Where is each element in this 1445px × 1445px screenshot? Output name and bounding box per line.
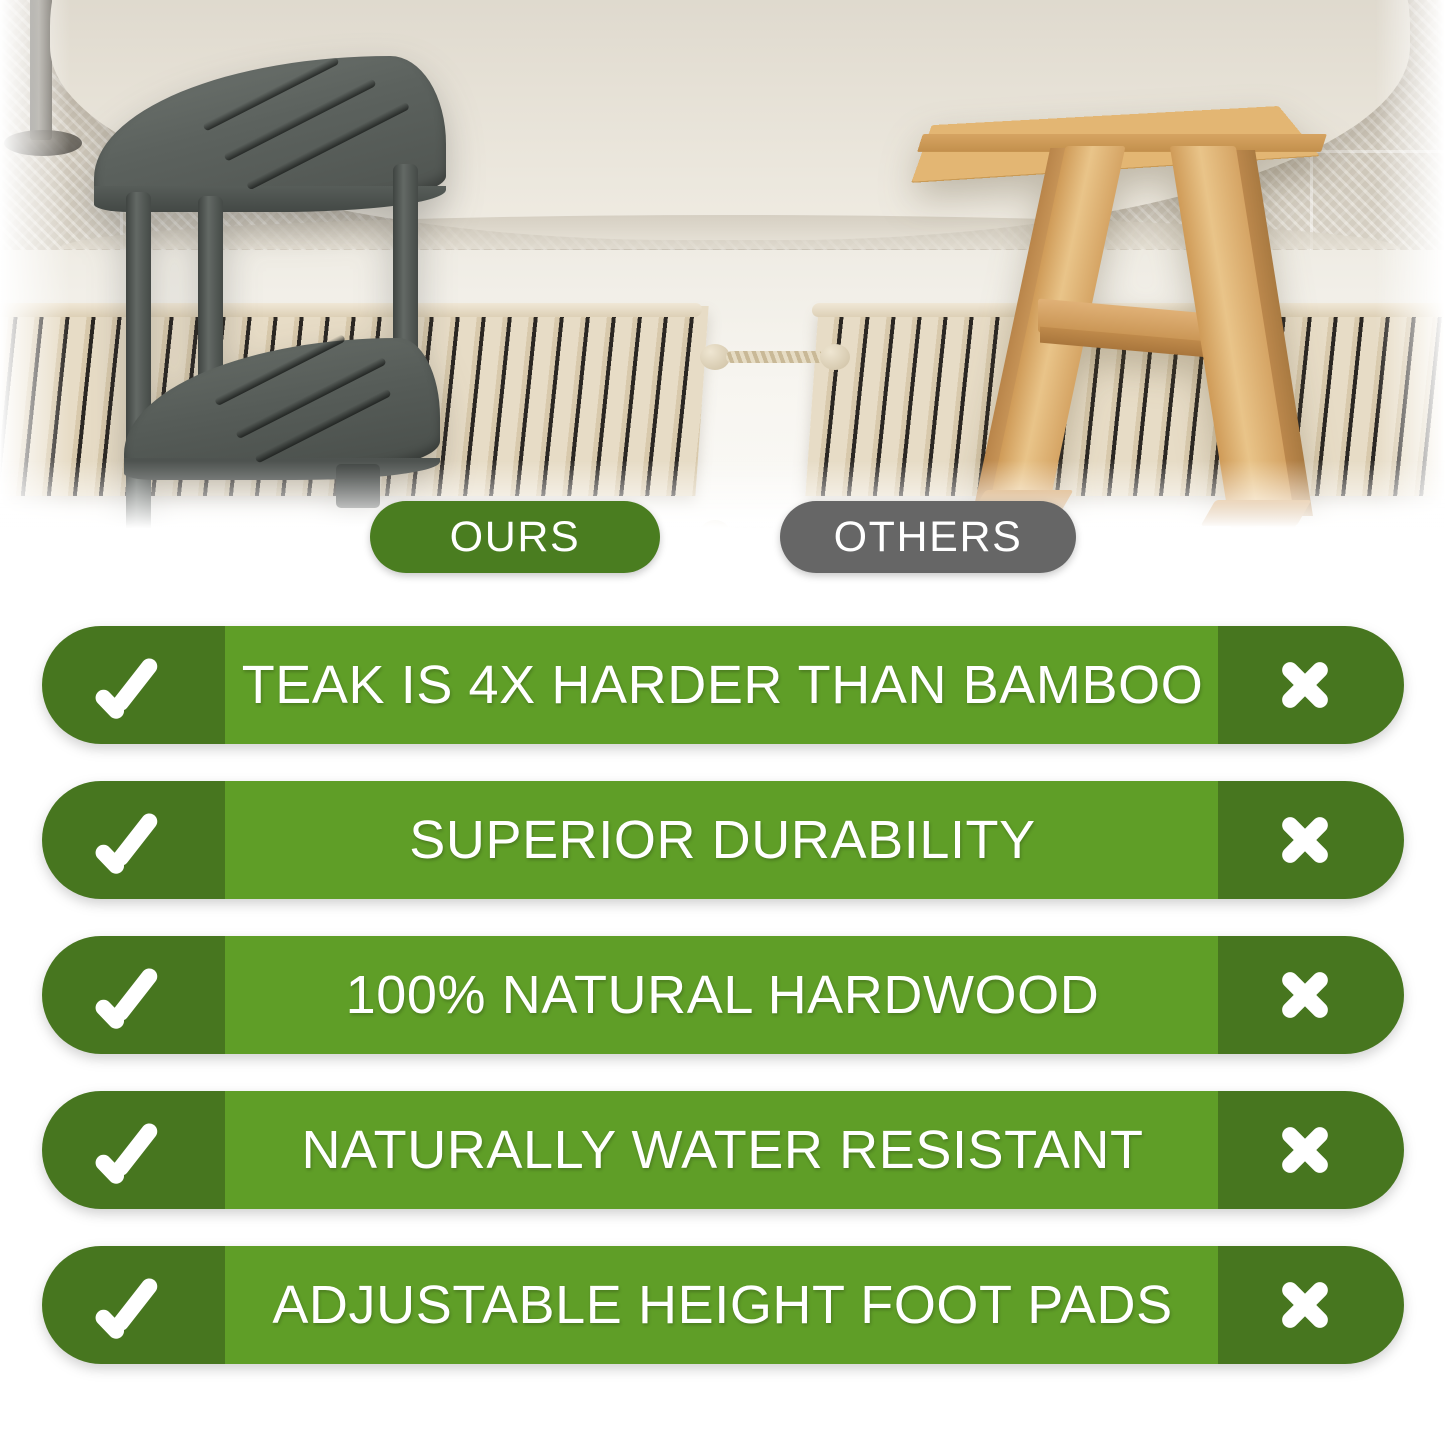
check-icon [96,811,170,869]
check-icon [96,1121,170,1179]
label-ours-text: OURS [450,513,581,562]
feature-row: TEAK IS 4X HARDER THAN BAMBOO [0,626,1445,744]
cross-icon [1274,1119,1336,1181]
product-others-bamboo-stool [908,38,1338,508]
feature-label: TEAK IS 4X HARDER THAN BAMBOO [240,626,1205,744]
mat-rope-knot [700,344,850,370]
cross-icon [1274,964,1336,1026]
cross-icon [1274,1274,1336,1336]
feature-row: ADJUSTABLE HEIGHT FOOT PADS [0,1246,1445,1364]
check-icon [96,1276,170,1334]
label-others: OTHERS [780,501,1076,573]
feature-comparison-list: TEAK IS 4X HARDER THAN BAMBOO SUPERIOR D… [0,626,1445,1401]
comparison-infographic: OURS OTHERS TEAK IS 4X HARDER THAN BAMBO… [0,0,1445,1445]
feature-row: SUPERIOR DURABILITY [0,781,1445,899]
feature-label: NATURALLY WATER RESISTANT [240,1091,1205,1209]
label-others-text: OTHERS [834,513,1023,562]
feature-row: 100% NATURAL HARDWOOD [0,936,1445,1054]
feature-label: SUPERIOR DURABILITY [240,781,1205,899]
feature-label: 100% NATURAL HARDWOOD [240,936,1205,1054]
cross-icon [1274,809,1336,871]
scene-fade-bottom [0,460,1445,570]
feature-row: NATURALLY WATER RESISTANT [0,1091,1445,1209]
cross-icon [1274,654,1336,716]
hero-product-scene [0,0,1445,570]
label-ours: OURS [370,501,660,573]
feature-label: ADJUSTABLE HEIGHT FOOT PADS [240,1246,1205,1364]
scene-fade-left [0,0,70,540]
scene-fade-right [1375,0,1445,540]
check-icon [96,966,170,1024]
bathroom-scene [0,0,1445,540]
check-icon [96,656,170,714]
